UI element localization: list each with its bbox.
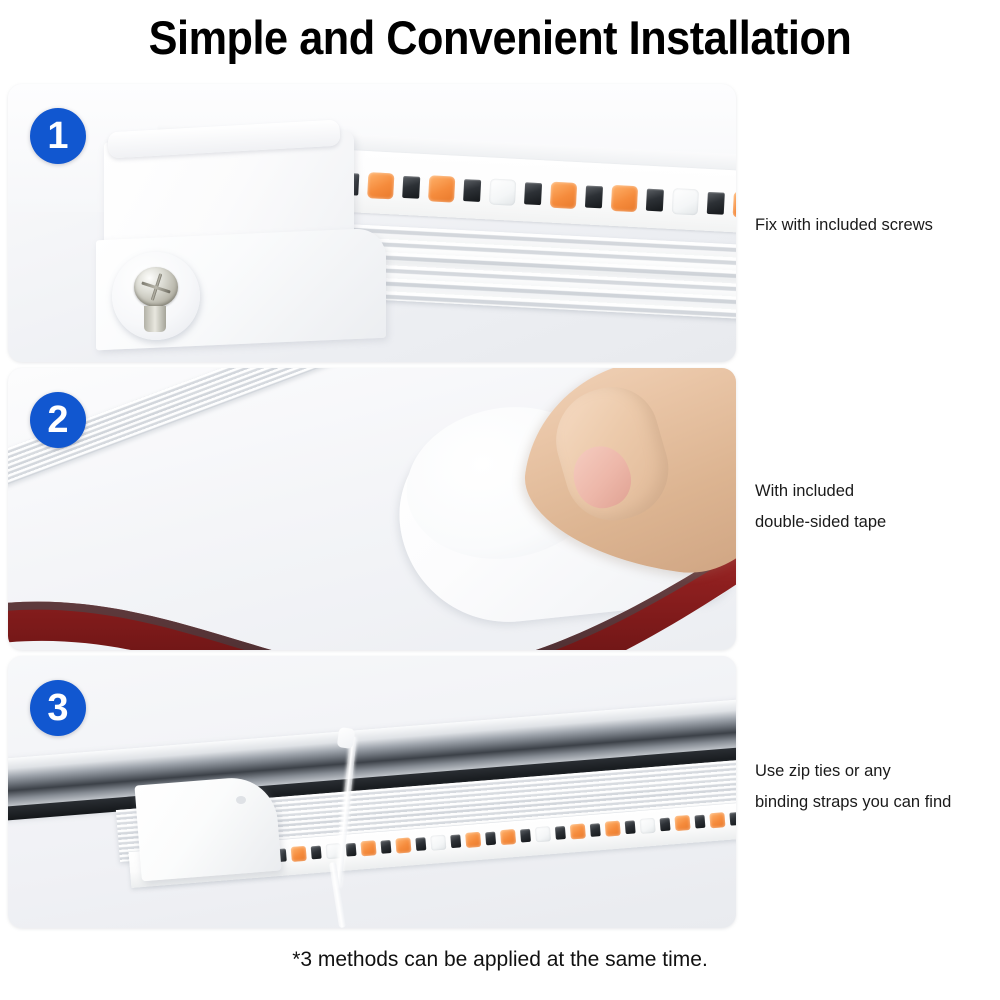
led-driver-chip	[450, 834, 461, 848]
led-orange	[500, 829, 516, 845]
led-driver-chip	[660, 818, 671, 832]
led-orange	[367, 172, 394, 199]
led-orange	[428, 175, 455, 202]
led-driver-chip	[346, 843, 357, 857]
step-2-photo: 2	[8, 368, 736, 650]
footer-note: *3 methods can be applied at the same ti…	[0, 948, 1000, 972]
led-driver-chip	[402, 176, 420, 199]
step-row-1: ALL-TX0102 1 Fix with included screws	[0, 84, 1000, 362]
caption-line: With included	[755, 476, 995, 507]
led-driver-chip	[625, 820, 636, 834]
screw-shank	[144, 306, 166, 332]
step-3-caption: Use zip ties or any binding straps you c…	[755, 756, 995, 818]
phillips-screw-head-icon	[134, 267, 178, 307]
led-driver-chip	[555, 826, 566, 840]
led-orange	[360, 840, 376, 856]
led-driver-chip	[463, 179, 481, 202]
led-white	[535, 826, 551, 842]
step-badge-1: 1	[30, 108, 86, 164]
led-driver-chip	[646, 189, 664, 212]
step-3-photo: ALL-TX0102 3	[8, 656, 736, 928]
zip-tie-head	[337, 727, 356, 749]
led-driver-chip	[485, 832, 496, 846]
led-white	[489, 178, 516, 205]
led-white	[430, 835, 446, 851]
led-driver-chip	[380, 840, 391, 854]
led-driver-chip	[707, 192, 725, 215]
step-row-2: 2 With included double-sided tape	[0, 368, 1000, 650]
led-orange	[674, 815, 690, 831]
led-orange	[550, 182, 577, 209]
step-badge-2: 2	[30, 392, 86, 448]
step-2-caption: With included double-sided tape	[755, 476, 995, 538]
step-badge-3: 3	[30, 680, 86, 736]
led-driver-chip	[729, 812, 736, 826]
installation-infographic: Simple and Convenient Installation ALL-T…	[0, 0, 1000, 1000]
led-driver-chip	[585, 185, 603, 208]
caption-line: Use zip ties or any	[755, 756, 995, 787]
led-orange	[570, 823, 586, 839]
led-orange	[611, 185, 638, 212]
led-orange	[605, 821, 621, 837]
step-1-caption: Fix with included screws	[755, 210, 995, 241]
white-mount-clip	[134, 775, 281, 882]
page-title: Simple and Convenient Installation	[40, 10, 960, 65]
step-row-3: ALL-TX0102 3 Use zip ties or any binding…	[0, 656, 1000, 928]
caption-line: Fix with included screws	[755, 210, 995, 241]
led-driver-chip	[694, 815, 705, 829]
step-1-photo: ALL-TX0102 1	[8, 84, 736, 362]
led-white	[672, 188, 699, 215]
clip-screw-hole	[236, 796, 246, 804]
led-orange	[291, 846, 307, 862]
led-orange	[709, 812, 725, 828]
led-driver-chip	[590, 823, 601, 837]
led-driver-chip	[524, 182, 542, 205]
led-driver-chip	[520, 829, 531, 843]
led-white	[640, 818, 656, 834]
led-driver-chip	[311, 846, 322, 860]
caption-line: binding straps you can find	[755, 787, 995, 818]
led-orange	[465, 832, 481, 848]
caption-line: double-sided tape	[755, 507, 995, 538]
led-orange	[395, 837, 411, 853]
led-orange	[733, 191, 736, 218]
led-driver-chip	[415, 837, 426, 851]
